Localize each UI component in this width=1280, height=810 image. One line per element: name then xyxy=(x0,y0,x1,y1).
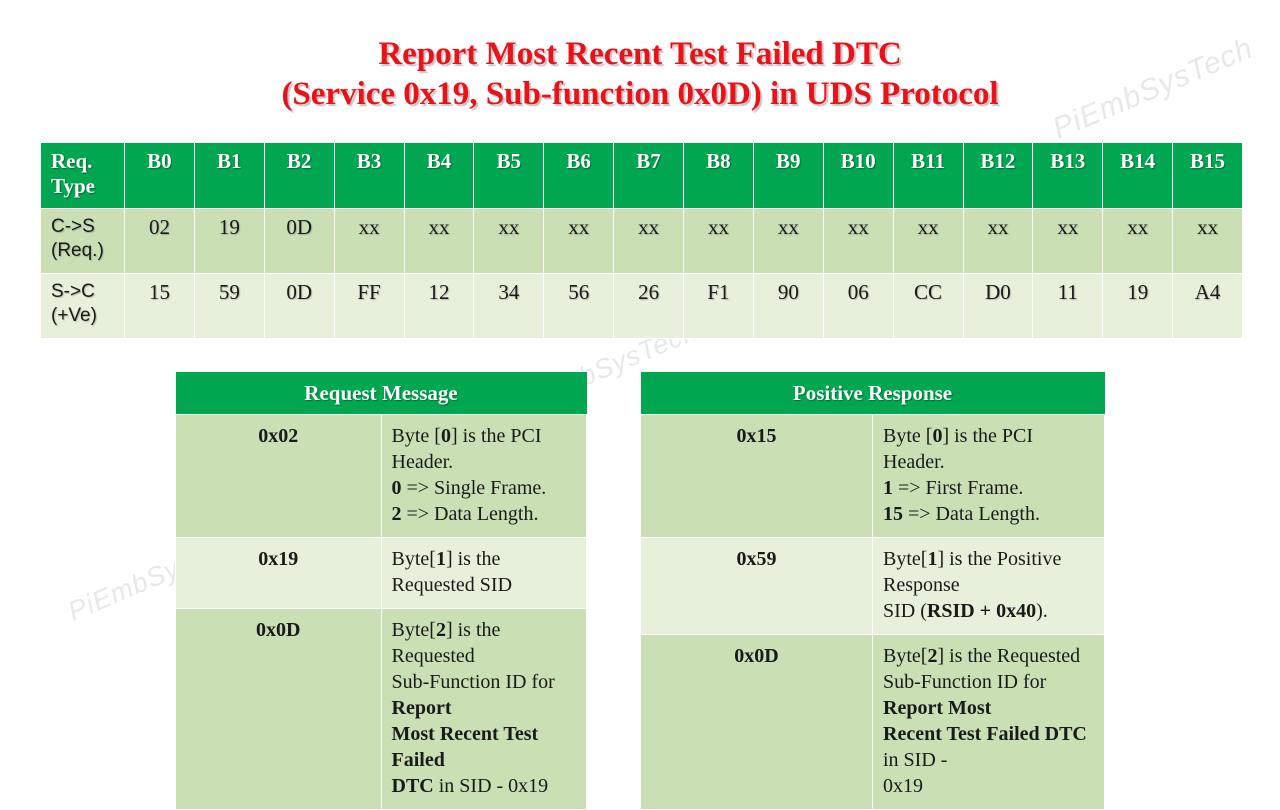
byte-cell-b14: 19 xyxy=(1103,274,1173,339)
column-header-b9: B9 xyxy=(753,143,823,209)
column-header-b5: B5 xyxy=(474,143,544,209)
text-segment: 0 xyxy=(932,425,942,447)
text-segment: Byte[ xyxy=(883,548,927,570)
positive-response-caption-row: Positive Response xyxy=(641,372,1105,415)
description-line: Most Recent Test Failed xyxy=(392,721,577,773)
byte-cell-b13: xx xyxy=(1033,209,1103,274)
byte-cell-b4: xx xyxy=(404,209,474,274)
request-message-description-cell: Byte[2] is the RequestedSub-Function ID … xyxy=(381,609,587,810)
text-segment: in SID - 0x19 xyxy=(434,775,548,797)
description-line: DTC in SID - 0x19 xyxy=(392,773,577,799)
request-message-code-cell: 0x0D xyxy=(176,609,382,810)
positive-response-caption: Positive Response xyxy=(641,372,1105,415)
byte-cell-b2: 0D xyxy=(264,209,334,274)
column-header-b4: B4 xyxy=(404,143,474,209)
positive-response-code-cell: 0x59 xyxy=(641,538,873,635)
byte-cell-b13: 11 xyxy=(1033,274,1103,339)
table-row: 0x15Byte [0] is the PCI Header.1 => Firs… xyxy=(641,415,1105,538)
table-row: 0x02Byte [0] is the PCI Header.0 => Sing… xyxy=(176,415,587,538)
text-segment: Byte[ xyxy=(392,548,436,570)
text-segment: 1 xyxy=(927,548,937,570)
byte-cell-b7: 26 xyxy=(614,274,684,339)
page-title-line-2: (Service 0x19, Sub-function 0x0D) in UDS… xyxy=(0,74,1280,114)
column-header-b1: B1 xyxy=(194,143,264,209)
byte-cell-b1: 19 xyxy=(194,209,264,274)
byte-cell-b6: 56 xyxy=(544,274,614,339)
text-segment: 0 xyxy=(441,425,451,447)
req-type-cell: C->S(Req.) xyxy=(41,209,125,274)
positive-response-description-cell: Byte[2] is the RequestedSub-Function ID … xyxy=(873,635,1105,810)
description-line: Sub-Function ID for Report Most xyxy=(883,669,1094,721)
byte-cell-b7: xx xyxy=(614,209,684,274)
description-line: SID (RSID + 0x40). xyxy=(883,598,1094,624)
column-header-b12: B12 xyxy=(963,143,1033,209)
description-line: Byte [0] is the PCI Header. xyxy=(883,423,1094,475)
text-segment: Byte [ xyxy=(392,425,441,447)
column-header-b15: B15 xyxy=(1173,143,1243,209)
text-segment: RSID + 0x40 xyxy=(927,600,1036,622)
description-line: 1 => First Frame. xyxy=(883,475,1094,501)
description-line: 15 => Data Length. xyxy=(883,501,1094,527)
table-row: 0x0DByte[2] is the RequestedSub-Function… xyxy=(641,635,1105,810)
positive-response-description-cell: Byte [0] is the PCI Header.1 => First Fr… xyxy=(873,415,1105,538)
request-message-code-cell: 0x02 xyxy=(176,415,382,538)
byte-cell-b12: xx xyxy=(963,209,1033,274)
byte-cell-b3: xx xyxy=(334,209,404,274)
column-header-b13: B13 xyxy=(1033,143,1103,209)
page-title-line-1: Report Most Recent Test Failed DTC xyxy=(378,36,901,72)
byte-table-head: Req. Type B0B1B2B3B4B5B6B7B8B9B10B11B12B… xyxy=(41,143,1243,209)
text-segment: => Data Length. xyxy=(903,503,1040,525)
byte-cell-b3: FF xyxy=(334,274,404,339)
request-message-description-cell: Byte[1] is the Requested SID xyxy=(381,538,587,609)
description-line: Byte[1] is the Requested SID xyxy=(392,546,577,598)
description-line: Byte [0] is the PCI Header. xyxy=(392,423,577,475)
req-type-line-1: C->S xyxy=(51,215,122,239)
text-segment: Byte[ xyxy=(883,645,927,667)
byte-cell-b15: xx xyxy=(1173,209,1243,274)
positive-response-code-cell: 0x15 xyxy=(641,415,873,538)
column-header-b14: B14 xyxy=(1103,143,1173,209)
text-segment: Byte [ xyxy=(883,425,932,447)
table-row: S->C(+Ve)15590DFF12345626F19006CCD01119A… xyxy=(41,274,1243,339)
byte-cell-b8: xx xyxy=(684,209,754,274)
byte-table-body: C->S(Req.)02190Dxxxxxxxxxxxxxxxxxxxxxxxx… xyxy=(41,209,1243,339)
request-message-caption-row: Request Message xyxy=(176,372,587,415)
description-line: Byte[1] is the Positive Response xyxy=(883,546,1094,598)
text-segment: 2 xyxy=(927,645,937,667)
table-row: 0x0DByte[2] is the RequestedSub-Function… xyxy=(176,609,587,810)
byte-cell-b12: D0 xyxy=(963,274,1033,339)
positive-response-table: Positive Response 0x15Byte [0] is the PC… xyxy=(640,372,1105,810)
text-segment: ] is the Requested xyxy=(937,645,1080,667)
text-segment: 15 xyxy=(883,503,903,525)
table-row: 0x59Byte[1] is the Positive ResponseSID … xyxy=(641,538,1105,635)
column-header-b10: B10 xyxy=(823,143,893,209)
description-line: Byte[2] is the Requested xyxy=(392,617,577,669)
req-type-line-1: S->C xyxy=(51,280,122,304)
byte-cell-b0: 15 xyxy=(125,274,195,339)
request-message-caption: Request Message xyxy=(176,372,587,415)
request-message-body: Request Message 0x02Byte [0] is the PCI … xyxy=(176,372,587,810)
req-type-line-2: (+Ve) xyxy=(51,304,122,328)
req-type-head-line-1: Req. xyxy=(51,149,92,173)
req-type-line-2: (Req.) xyxy=(51,239,122,263)
page-title: Report Most Recent Test Failed DTC (Serv… xyxy=(0,34,1280,114)
text-segment: 1 xyxy=(436,548,446,570)
byte-cell-b15: A4 xyxy=(1173,274,1243,339)
byte-cell-b0: 02 xyxy=(125,209,195,274)
byte-cell-b1: 59 xyxy=(194,274,264,339)
byte-cell-b14: xx xyxy=(1103,209,1173,274)
text-segment: Sub-Function ID for xyxy=(392,671,555,693)
text-segment: Recent Test Failed DTC xyxy=(883,723,1087,745)
byte-cell-b11: CC xyxy=(893,274,963,339)
byte-cell-b6: xx xyxy=(544,209,614,274)
byte-cell-b9: xx xyxy=(753,209,823,274)
text-segment: ). xyxy=(1036,600,1048,622)
req-type-cell: S->C(+Ve) xyxy=(41,274,125,339)
table-row: C->S(Req.)02190Dxxxxxxxxxxxxxxxxxxxxxxxx… xyxy=(41,209,1243,274)
column-header-b3: B3 xyxy=(334,143,404,209)
byte-cell-b2: 0D xyxy=(264,274,334,339)
positive-response-body: Positive Response 0x15Byte [0] is the PC… xyxy=(641,372,1105,810)
req-type-head-line-2: Type xyxy=(51,174,95,198)
text-segment: 1 xyxy=(883,477,893,499)
text-segment: 2 xyxy=(436,619,446,641)
request-message-code-cell: 0x19 xyxy=(176,538,382,609)
description-line: Recent Test Failed DTC in SID - xyxy=(883,721,1094,773)
description-line: 0 => Single Frame. xyxy=(392,475,577,501)
request-message-description-cell: Byte [0] is the PCI Header.0 => Single F… xyxy=(381,415,587,538)
request-message-table: Request Message 0x02Byte [0] is the PCI … xyxy=(175,372,587,810)
text-segment: DTC xyxy=(392,775,434,797)
text-segment: Report Most xyxy=(883,697,991,719)
description-line: Sub-Function ID for Report xyxy=(392,669,577,721)
text-segment: => Single Frame. xyxy=(402,477,547,499)
text-segment: in SID - xyxy=(883,749,947,771)
column-header-b7: B7 xyxy=(614,143,684,209)
text-segment: 2 xyxy=(392,503,402,525)
column-header-b0: B0 xyxy=(125,143,195,209)
text-segment: => Data Length. xyxy=(402,503,539,525)
byte-cell-b4: 12 xyxy=(404,274,474,339)
byte-cell-b11: xx xyxy=(893,209,963,274)
text-segment: Sub-Function ID for xyxy=(883,671,1046,693)
text-segment: Report xyxy=(392,697,452,719)
uds-byte-layout-table: Req. Type B0B1B2B3B4B5B6B7B8B9B10B11B12B… xyxy=(40,142,1243,339)
byte-table-header-row: Req. Type B0B1B2B3B4B5B6B7B8B9B10B11B12B… xyxy=(41,143,1243,209)
positive-response-code-cell: 0x0D xyxy=(641,635,873,810)
positive-response-description-cell: Byte[1] is the Positive ResponseSID (RSI… xyxy=(873,538,1105,635)
byte-cell-b9: 90 xyxy=(753,274,823,339)
text-segment: SID ( xyxy=(883,600,927,622)
column-header-b6: B6 xyxy=(544,143,614,209)
byte-cell-b10: 06 xyxy=(823,274,893,339)
column-header-b11: B11 xyxy=(893,143,963,209)
text-segment: 0x19 xyxy=(883,775,923,797)
text-segment: Most Recent Test Failed xyxy=(392,723,539,771)
description-line: 2 => Data Length. xyxy=(392,501,577,527)
description-line: 0x19 xyxy=(883,773,1094,799)
text-segment: 0 xyxy=(392,477,402,499)
column-header-req-type: Req. Type xyxy=(41,143,125,209)
byte-cell-b5: xx xyxy=(474,209,544,274)
byte-cell-b10: xx xyxy=(823,209,893,274)
byte-cell-b5: 34 xyxy=(474,274,544,339)
column-header-b2: B2 xyxy=(264,143,334,209)
description-line: Byte[2] is the Requested xyxy=(883,643,1094,669)
byte-cell-b8: F1 xyxy=(684,274,754,339)
text-segment: Byte[ xyxy=(392,619,436,641)
text-segment: => First Frame. xyxy=(893,477,1023,499)
table-row: 0x19Byte[1] is the Requested SID xyxy=(176,538,587,609)
column-header-b8: B8 xyxy=(684,143,754,209)
